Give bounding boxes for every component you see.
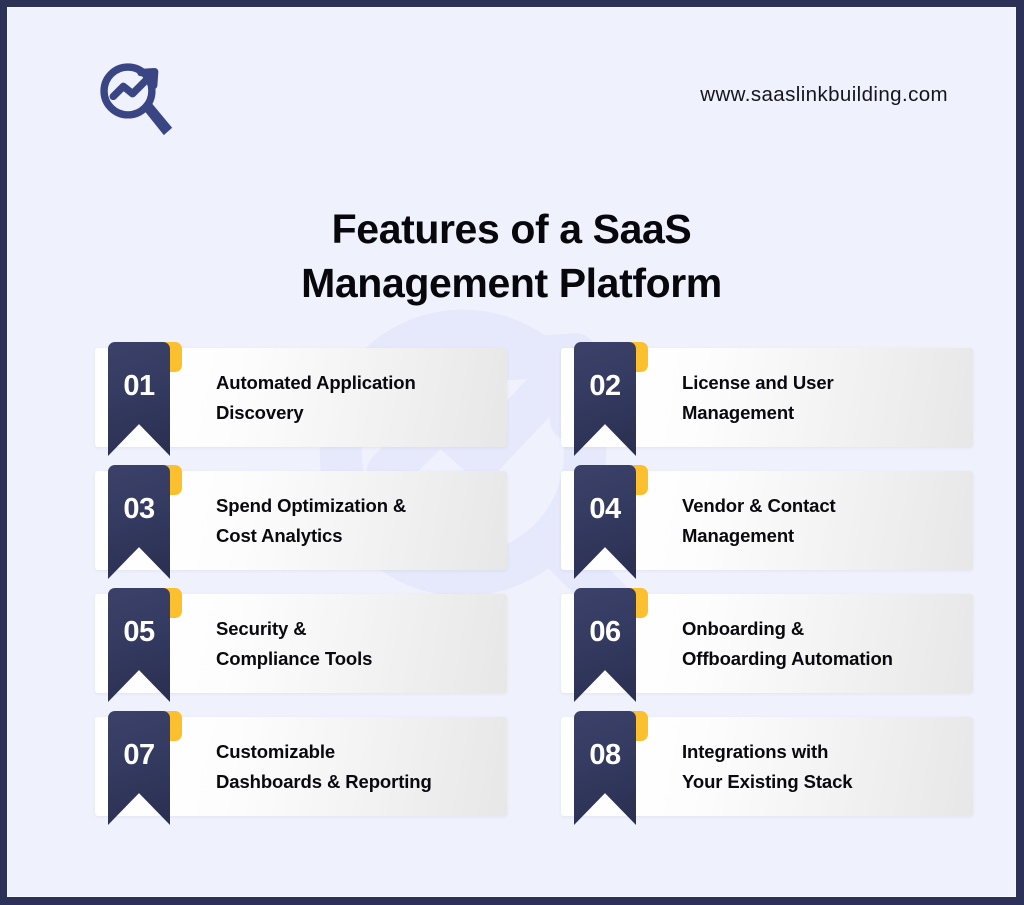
feature-card[interactable]: 07 Customizable Dashboards & Reporting <box>95 717 507 816</box>
feature-label: Vendor & Contact Management <box>682 471 957 570</box>
feature-number: 04 <box>589 495 620 524</box>
feature-number: 01 <box>123 372 154 401</box>
page-title: Features of a SaaS Management Platform <box>7 202 1016 310</box>
feature-number: 05 <box>123 618 154 647</box>
magnifier-trend-arrow-icon <box>93 52 185 152</box>
feature-card[interactable]: 01 Automated Application Discovery <box>95 348 507 447</box>
feature-label: Security & Compliance Tools <box>216 594 491 693</box>
feature-card[interactable]: 02 License and User Management <box>561 348 973 447</box>
feature-label: Onboarding & Offboarding Automation <box>682 594 957 693</box>
feature-number: 07 <box>123 741 154 770</box>
features-grid: 01 Automated Application Discovery 02 Li… <box>95 348 973 816</box>
feature-card[interactable]: 03 Spend Optimization & Cost Analytics <box>95 471 507 570</box>
feature-label: License and User Management <box>682 348 957 447</box>
feature-label: Integrations with Your Existing Stack <box>682 717 957 816</box>
site-url[interactable]: www.saaslinkbuilding.com <box>700 83 948 107</box>
feature-number: 03 <box>123 495 154 524</box>
feature-card[interactable]: 08 Integrations with Your Existing Stack <box>561 717 973 816</box>
feature-label: Automated Application Discovery <box>216 348 491 447</box>
feature-label: Customizable Dashboards & Reporting <box>216 717 491 816</box>
feature-label: Spend Optimization & Cost Analytics <box>216 471 491 570</box>
infographic-canvas: www.saaslinkbuilding.com Features of a S… <box>7 7 1016 897</box>
feature-card[interactable]: 06 Onboarding & Offboarding Automation <box>561 594 973 693</box>
feature-card[interactable]: 05 Security & Compliance Tools <box>95 594 507 693</box>
feature-card[interactable]: 04 Vendor & Contact Management <box>561 471 973 570</box>
feature-number: 02 <box>589 372 620 401</box>
infographic-page: www.saaslinkbuilding.com Features of a S… <box>0 0 1024 905</box>
feature-number: 08 <box>589 741 620 770</box>
page-header: www.saaslinkbuilding.com <box>7 7 1016 157</box>
feature-number: 06 <box>589 618 620 647</box>
